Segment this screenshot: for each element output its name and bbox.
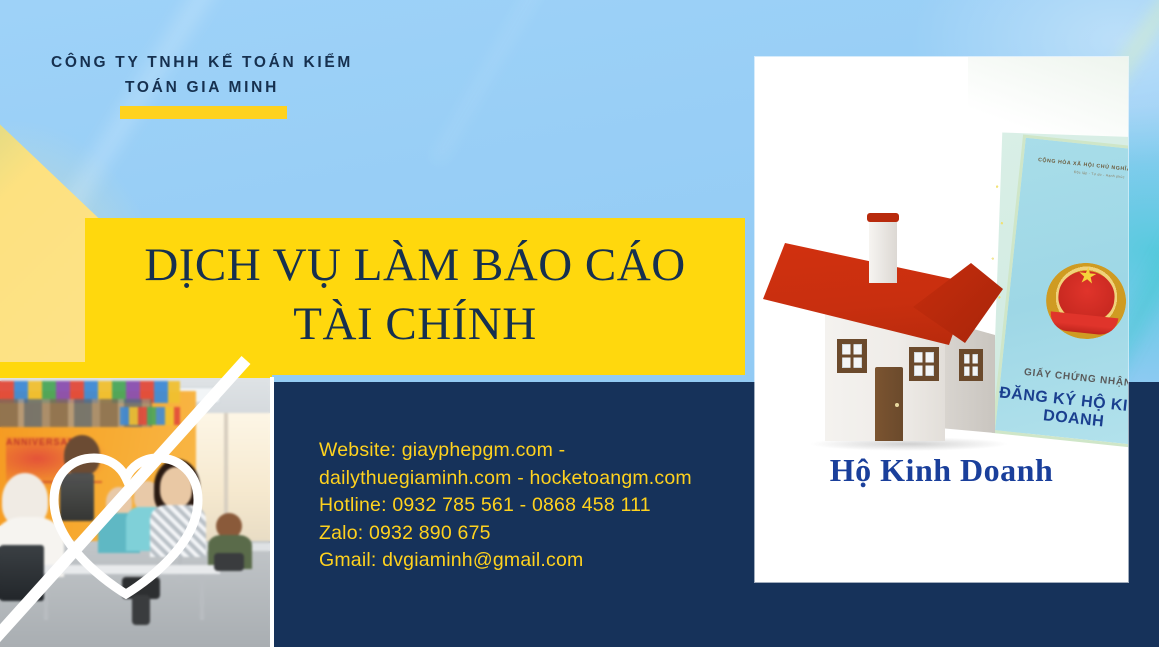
headline-title: DỊCH VỤ LÀM BÁO CÁO TÀI CHÍNH — [144, 236, 685, 358]
vietnam-emblem-icon — [1042, 259, 1128, 343]
headline-banner: DỊCH VỤ LÀM BÁO CÁO TÀI CHÍNH — [85, 218, 745, 375]
photo-softening-layer — [0, 377, 270, 647]
house-door — [875, 367, 903, 441]
house-window — [909, 347, 939, 381]
house-window — [837, 339, 867, 373]
poster-canvas: CÔNG TY TNHH KẾ TOÁN KIỂM TOÁN GIA MINH … — [0, 0, 1159, 647]
house-chimney — [869, 217, 897, 283]
company-name-block: CÔNG TY TNHH KẾ TOÁN KIỂM TOÁN GIA MINH — [0, 50, 404, 100]
chimney-cap — [867, 213, 899, 222]
house-window — [959, 349, 983, 381]
company-name: CÔNG TY TNHH KẾ TOÁN KIỂM TOÁN GIA MINH — [0, 50, 404, 100]
photo-caption: Hộ Kinh Doanh — [755, 452, 1128, 489]
contact-details: Website: giayphepgm.com - dailythuegiami… — [319, 437, 692, 575]
right-navy-strip — [1128, 382, 1159, 647]
photo-right-edge — [270, 377, 274, 647]
product-photo-card: CỘNG HÒA XÃ HỘI CHỦ NGHĨA VIỆT NAM Độc l… — [755, 57, 1128, 582]
door-knob — [895, 403, 899, 407]
house-illustration — [763, 217, 1003, 452]
accent-bar — [120, 106, 287, 119]
office-team-photo: ANNIVERSARY — [0, 377, 270, 647]
certificate-title-line-2: ĐĂNG KÝ HỘ KINH DOANH — [996, 384, 1128, 436]
